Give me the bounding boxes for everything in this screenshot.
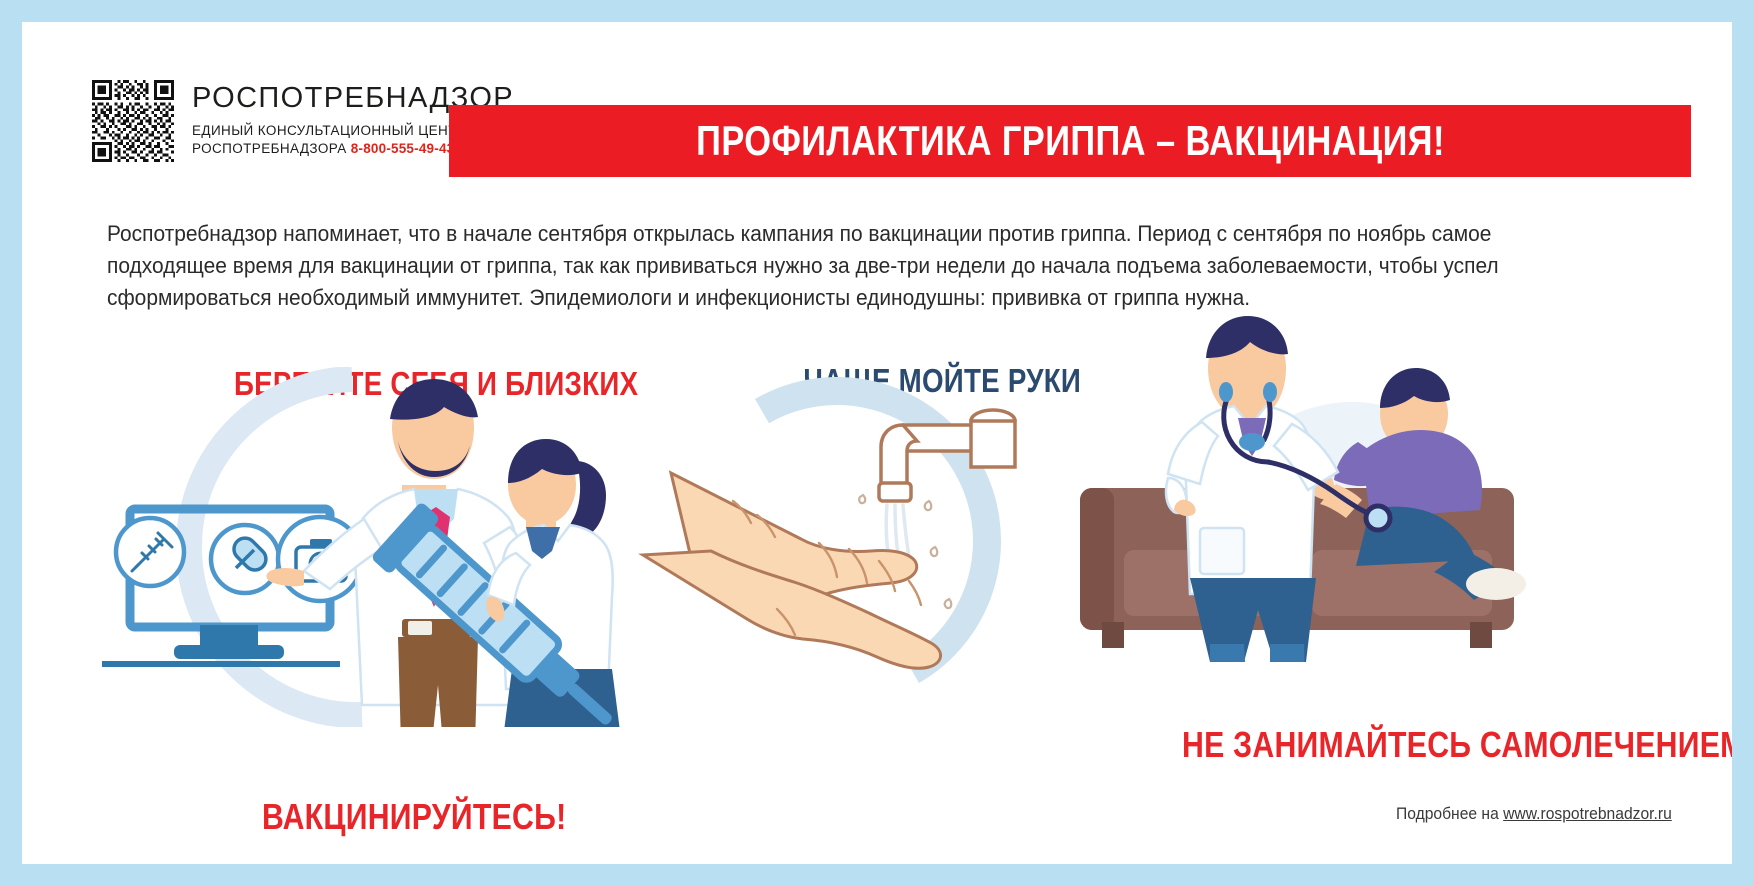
poster: РОСПОТРЕБНАДЗОР ЕДИНЫЙ КОНСУЛЬТАЦИОННЫЙ …: [22, 22, 1732, 864]
subtitle-line-1: ЕДИНЫЙ КОНСУЛЬТАЦИОННЫЙ ЦЕНТР: [192, 123, 466, 138]
footer-prefix: Подробнее на: [1396, 804, 1503, 823]
banner-title: ПРОФИЛАКТИКА ГРИППА – ВАКЦИНАЦИЯ!: [696, 117, 1445, 165]
heading-no-self-medication: НЕ ЗАНИМАЙТЕСЬ САМОЛЕЧЕНИЕМ!: [1182, 724, 1732, 766]
qr-code-icon: [92, 80, 174, 162]
handwash-illustration: [637, 377, 1037, 707]
poster-header: РОСПОТРЕБНАДЗОР ЕДИНЫЙ КОНСУЛЬТАЦИОННЫЙ …: [22, 22, 1732, 172]
website-url[interactable]: www.rospotrebnadzor.ru: [1503, 804, 1672, 823]
vaccination-illustration: [102, 367, 622, 727]
heading-get-vaccinated: ВАКЦИНИРУЙТЕСЬ!: [262, 796, 566, 838]
doctor-patient-illustration: [1062, 292, 1532, 662]
hotline-phone[interactable]: 8-800-555-49-43: [351, 141, 455, 156]
footer-note: Подробнее на www.rospotrebnadzor.ru: [1396, 804, 1672, 824]
banner: ПРОФИЛАКТИКА ГРИППА – ВАКЦИНАЦИЯ!: [449, 105, 1691, 177]
subtitle-line-2: РОСПОТРЕБНАДЗОРА: [192, 141, 347, 156]
